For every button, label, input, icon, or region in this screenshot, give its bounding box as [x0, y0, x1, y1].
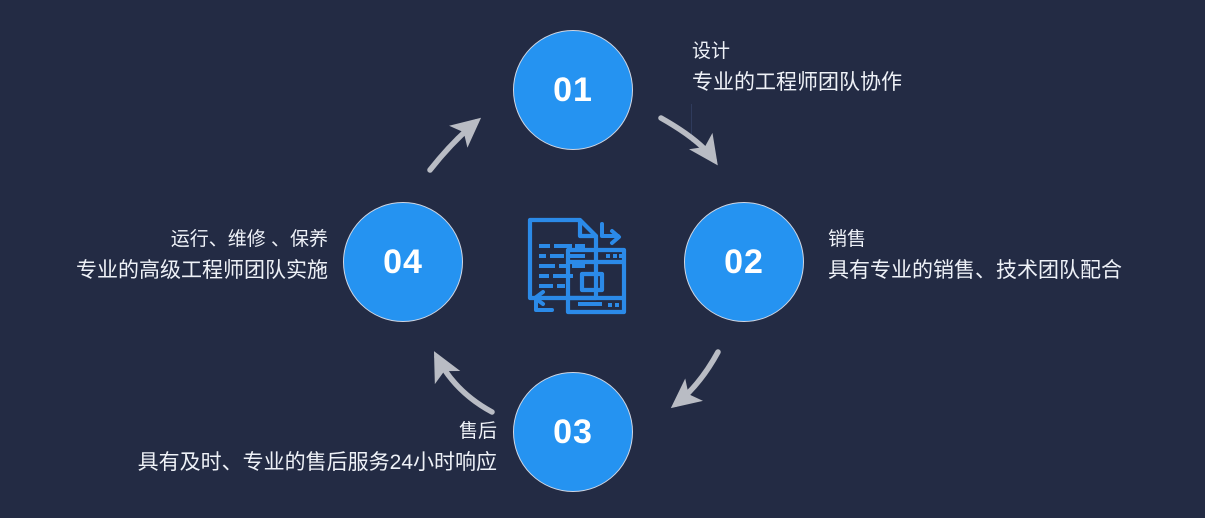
arrow-01-to-02 — [661, 118, 714, 160]
node-number-01: 01 — [553, 73, 593, 107]
label-step-03-title: 售后 — [138, 418, 497, 447]
label-step-02-title: 销售 — [828, 226, 1122, 255]
cycle-node-01[interactable]: 01 — [513, 30, 633, 150]
node-number-02: 02 — [724, 245, 764, 279]
label-step-04-title: 运行、维修 、保养 — [76, 226, 328, 255]
cycle-node-04[interactable]: 04 — [343, 202, 463, 322]
node-number-03: 03 — [553, 415, 593, 449]
label-step-03: 售后 具有及时、专业的售后服务24小时响应 — [138, 418, 497, 478]
arrow-02-to-03 — [676, 352, 718, 404]
label-step-01-desc: 专业的工程师团队协作 — [692, 67, 902, 99]
label-step-01-title: 设计 — [692, 38, 902, 67]
label-step-03-desc: 具有及时、专业的售后服务24小时响应 — [138, 447, 497, 479]
label-step-04-desc: 专业的高级工程师团队实施 — [76, 255, 328, 287]
hairline-artifact — [691, 104, 692, 142]
label-step-02-desc: 具有专业的销售、技术团队配合 — [828, 255, 1122, 287]
arrow-04-to-01 — [430, 122, 476, 170]
document-to-browser-sync-icon — [522, 214, 632, 319]
label-step-02: 销售 具有专业的销售、技术团队配合 — [828, 226, 1122, 286]
node-number-04: 04 — [383, 245, 423, 279]
cycle-node-03[interactable]: 03 — [513, 372, 633, 492]
cycle-node-02[interactable]: 02 — [684, 202, 804, 322]
arrow-03-to-04 — [437, 357, 492, 412]
label-step-04: 运行、维修 、保养 专业的高级工程师团队实施 — [76, 226, 328, 286]
diagram-canvas: 01 02 03 04 设计 专业的工程师团队协作 销售 具有专业的销售、技术团… — [0, 0, 1205, 518]
label-step-01: 设计 专业的工程师团队协作 — [692, 38, 902, 98]
